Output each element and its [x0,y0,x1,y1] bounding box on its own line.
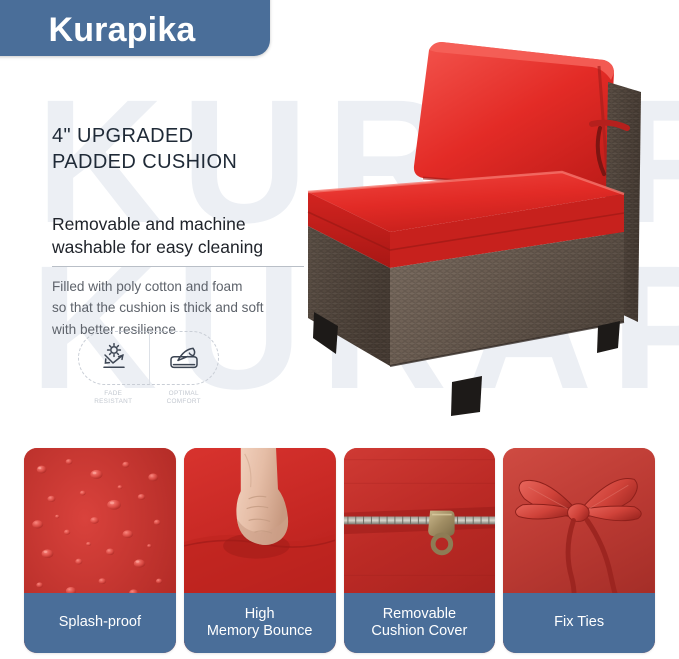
panel-caption-splash-proof-text: Splash-proof [59,614,141,631]
sun-fade-resistant-icon [97,342,131,374]
divider-rule [52,266,304,267]
feature-label-fade-line-2: RESISTANT [78,398,149,406]
product-photo-main [286,36,679,440]
panel-caption-removable-cover: Removable Cushion Cover [344,593,496,653]
feature-labels: FADE RESISTANT OPTIMAL COMFORT [78,390,219,407]
panel-caption-fix-ties-text: Fix Ties [554,614,604,631]
brand-badge: Kurapika [0,0,270,56]
feature-cell-fade-resistant [79,332,149,384]
brand-name: Kurapika [48,11,195,50]
subheadline-line-2: washable for easy cleaning [52,236,314,259]
feature-label-comfort-line-1: OPTIMAL [149,390,220,398]
feature-cell-optimal-comfort [149,332,219,384]
panel-caption-cover-line-1: Removable [371,606,467,623]
body-copy-line-2: so that the cushion is thick and soft [52,297,314,318]
headline: 4" UPGRADED PADDED CUSHION [52,124,314,175]
feature-panel-splash-proof: Splash-proof [24,448,176,653]
feature-panel-memory-bounce: High Memory Bounce [184,448,336,653]
headline-line-1: 4" UPGRADED [52,124,314,150]
headline-line-2: PADDED CUSHION [52,150,314,176]
subheadline: Removable and machine washable for easy … [52,213,314,259]
panel-caption-splash-proof: Splash-proof [24,593,176,653]
wicker-chair-illustration [286,36,679,440]
feature-label-fade-line-1: FADE [78,390,149,398]
body-copy-line-1: Filled with poly cotton and foam [52,276,314,297]
panel-caption-memory-bounce: High Memory Bounce [184,593,336,653]
feature-label-fade-resistant: FADE RESISTANT [78,390,149,407]
feature-label-comfort-line-2: COMFORT [149,398,220,406]
feature-label-optimal-comfort: OPTIMAL COMFORT [149,390,220,407]
feature-capsule [78,331,219,385]
cushion-comfort-icon [166,342,202,374]
back-cushion [414,42,614,192]
copy-block: 4" UPGRADED PADDED CUSHION Removable and… [52,124,314,340]
feature-panel-fix-ties: Fix Ties [503,448,655,653]
feature-badges: FADE RESISTANT OPTIMAL COMFORT [78,331,219,407]
panel-caption-memory-line-1: High [207,606,313,623]
subheadline-line-1: Removable and machine [52,213,314,236]
feature-panel-removable-cover: Removable Cushion Cover [344,448,496,653]
panel-caption-fix-ties: Fix Ties [503,593,655,653]
panel-caption-memory-line-2: Memory Bounce [207,623,313,640]
feature-panel-row: Splash-proof [0,448,679,653]
panel-caption-cover-line-2: Cushion Cover [371,623,467,640]
product-marketing-image: KURAPIKA KURAPIKA [0,0,679,659]
